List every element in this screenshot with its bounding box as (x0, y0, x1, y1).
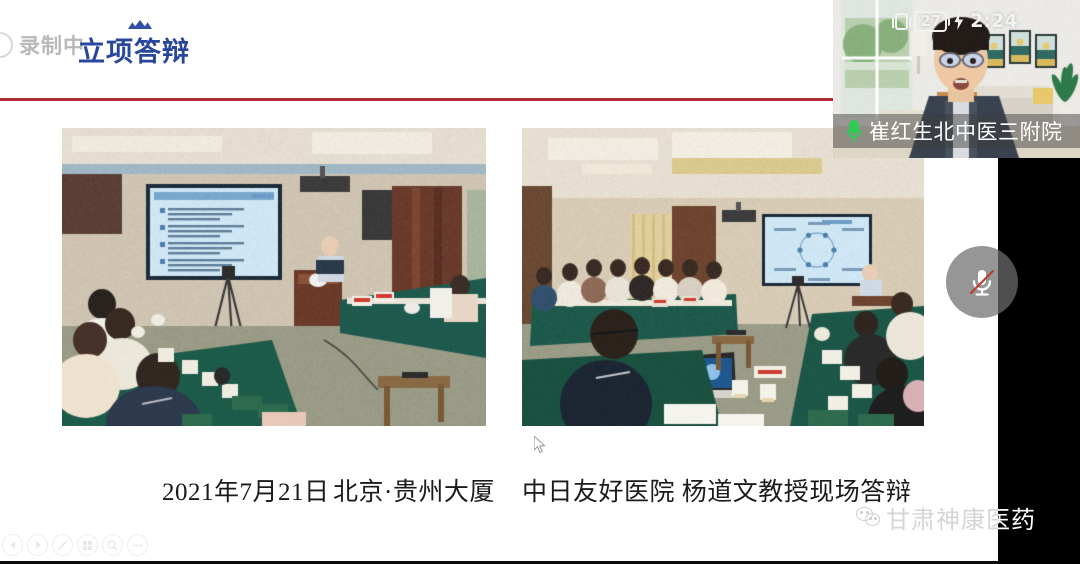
mute-microphone-button[interactable] (946, 246, 1018, 318)
caption-place: 北京·贵州大厦 (333, 472, 495, 508)
slide-photo-right (522, 128, 924, 426)
triangle-left-icon (7, 539, 19, 551)
next-slide-button[interactable] (27, 534, 48, 556)
caption-right: 中日友好医院 杨道文教授现场答辩 (522, 472, 911, 508)
participant-video-tile[interactable]: 27 2:24 崔红生北中医三附院 (833, 0, 1080, 158)
annotate-pen-button[interactable] (52, 534, 73, 556)
cloud-record-icon (0, 32, 13, 58)
slide-title-block: 立项答辩 (78, 18, 190, 69)
recording-indicator: 录制中 (0, 30, 85, 60)
page-title: 立项答辩 (78, 30, 190, 69)
caption-date: 2021年7月21日 (162, 472, 330, 508)
ellipsis-icon (131, 539, 144, 552)
pen-icon (56, 538, 70, 552)
battery-indicator: 27 (914, 11, 947, 32)
slide-photo-left (62, 128, 486, 426)
charging-bolt-icon (953, 12, 964, 30)
wechat-watermark-overlap: 甘肃神康医药 (998, 500, 1080, 544)
zoom-button[interactable] (102, 534, 123, 556)
participant-name: 崔红生北中医三附院 (869, 116, 1063, 146)
triangle-right-icon (32, 539, 44, 551)
vibrate-icon (895, 13, 908, 30)
participant-name-bar: 崔红生北中医三附院 (833, 114, 1080, 148)
magnifier-icon (106, 539, 119, 552)
mouse-cursor (534, 436, 547, 454)
phone-status-overlay: 27 2:24 (833, 10, 1080, 32)
more-options-button[interactable] (127, 534, 148, 556)
watermark-text-overlap: 甘肃神康医药 (998, 500, 1036, 535)
grid-icon (81, 539, 94, 552)
mountain-mark-icon (128, 18, 152, 29)
presentation-toolbar[interactable] (0, 532, 148, 558)
microphone-on-icon (847, 120, 861, 142)
wechat-logo-icon (856, 507, 881, 528)
recording-label: 录制中 (19, 30, 85, 60)
screen-share-stage: 录制中 立项答辩 2021年7月21日 北京·贵州大厦 中日友好医院 杨道文教授… (0, 0, 1080, 564)
prev-slide-button[interactable] (2, 534, 23, 556)
slide-grid-button[interactable] (77, 534, 98, 556)
microphone-muted-icon (964, 264, 1000, 300)
clock-time: 2:24 (970, 10, 1017, 32)
